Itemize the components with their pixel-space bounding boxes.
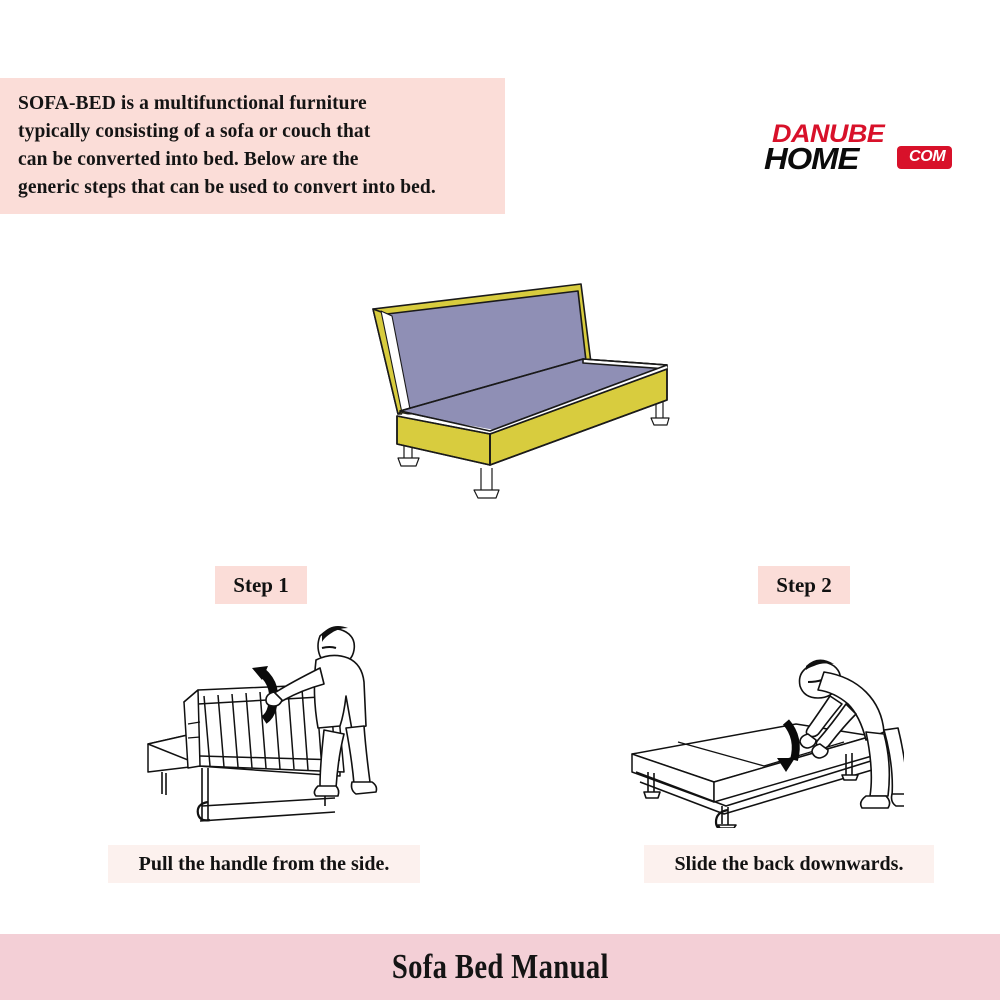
footer-banner: Sofa Bed Manual	[0, 934, 1000, 1000]
hero-sofa-illustration	[340, 268, 700, 513]
step-2-illustration	[618, 620, 904, 828]
step-2-svg	[618, 620, 904, 828]
intro-text-box: SOFA-BED is a multifunctional furniture …	[0, 78, 505, 214]
logo-com-badge: COM	[897, 146, 952, 169]
step-1-svg	[140, 616, 392, 828]
intro-paragraph: SOFA-BED is a multifunctional furniture …	[18, 90, 491, 202]
footer-title: Sofa Bed Manual	[391, 947, 608, 987]
step-1-illustration	[140, 616, 392, 828]
person-leg-front	[346, 726, 370, 784]
step-1-badge: Step 1	[215, 566, 307, 604]
step-1-caption: Pull the handle from the side.	[108, 845, 420, 883]
step-2-badge: Step 2	[758, 566, 850, 604]
person-torso	[314, 655, 366, 730]
person-shoe-front	[352, 782, 377, 794]
person-shoe-back	[861, 796, 890, 808]
logo-word-home: HOME	[764, 141, 858, 177]
person-shoe-front	[892, 794, 905, 806]
person-shoe-back	[314, 786, 338, 796]
step-2-caption: Slide the back downwards.	[644, 845, 934, 883]
brand-logo: DANUBE HOME COM	[764, 120, 969, 172]
person-leg-back	[866, 732, 889, 796]
hero-sofa-svg	[340, 268, 700, 513]
